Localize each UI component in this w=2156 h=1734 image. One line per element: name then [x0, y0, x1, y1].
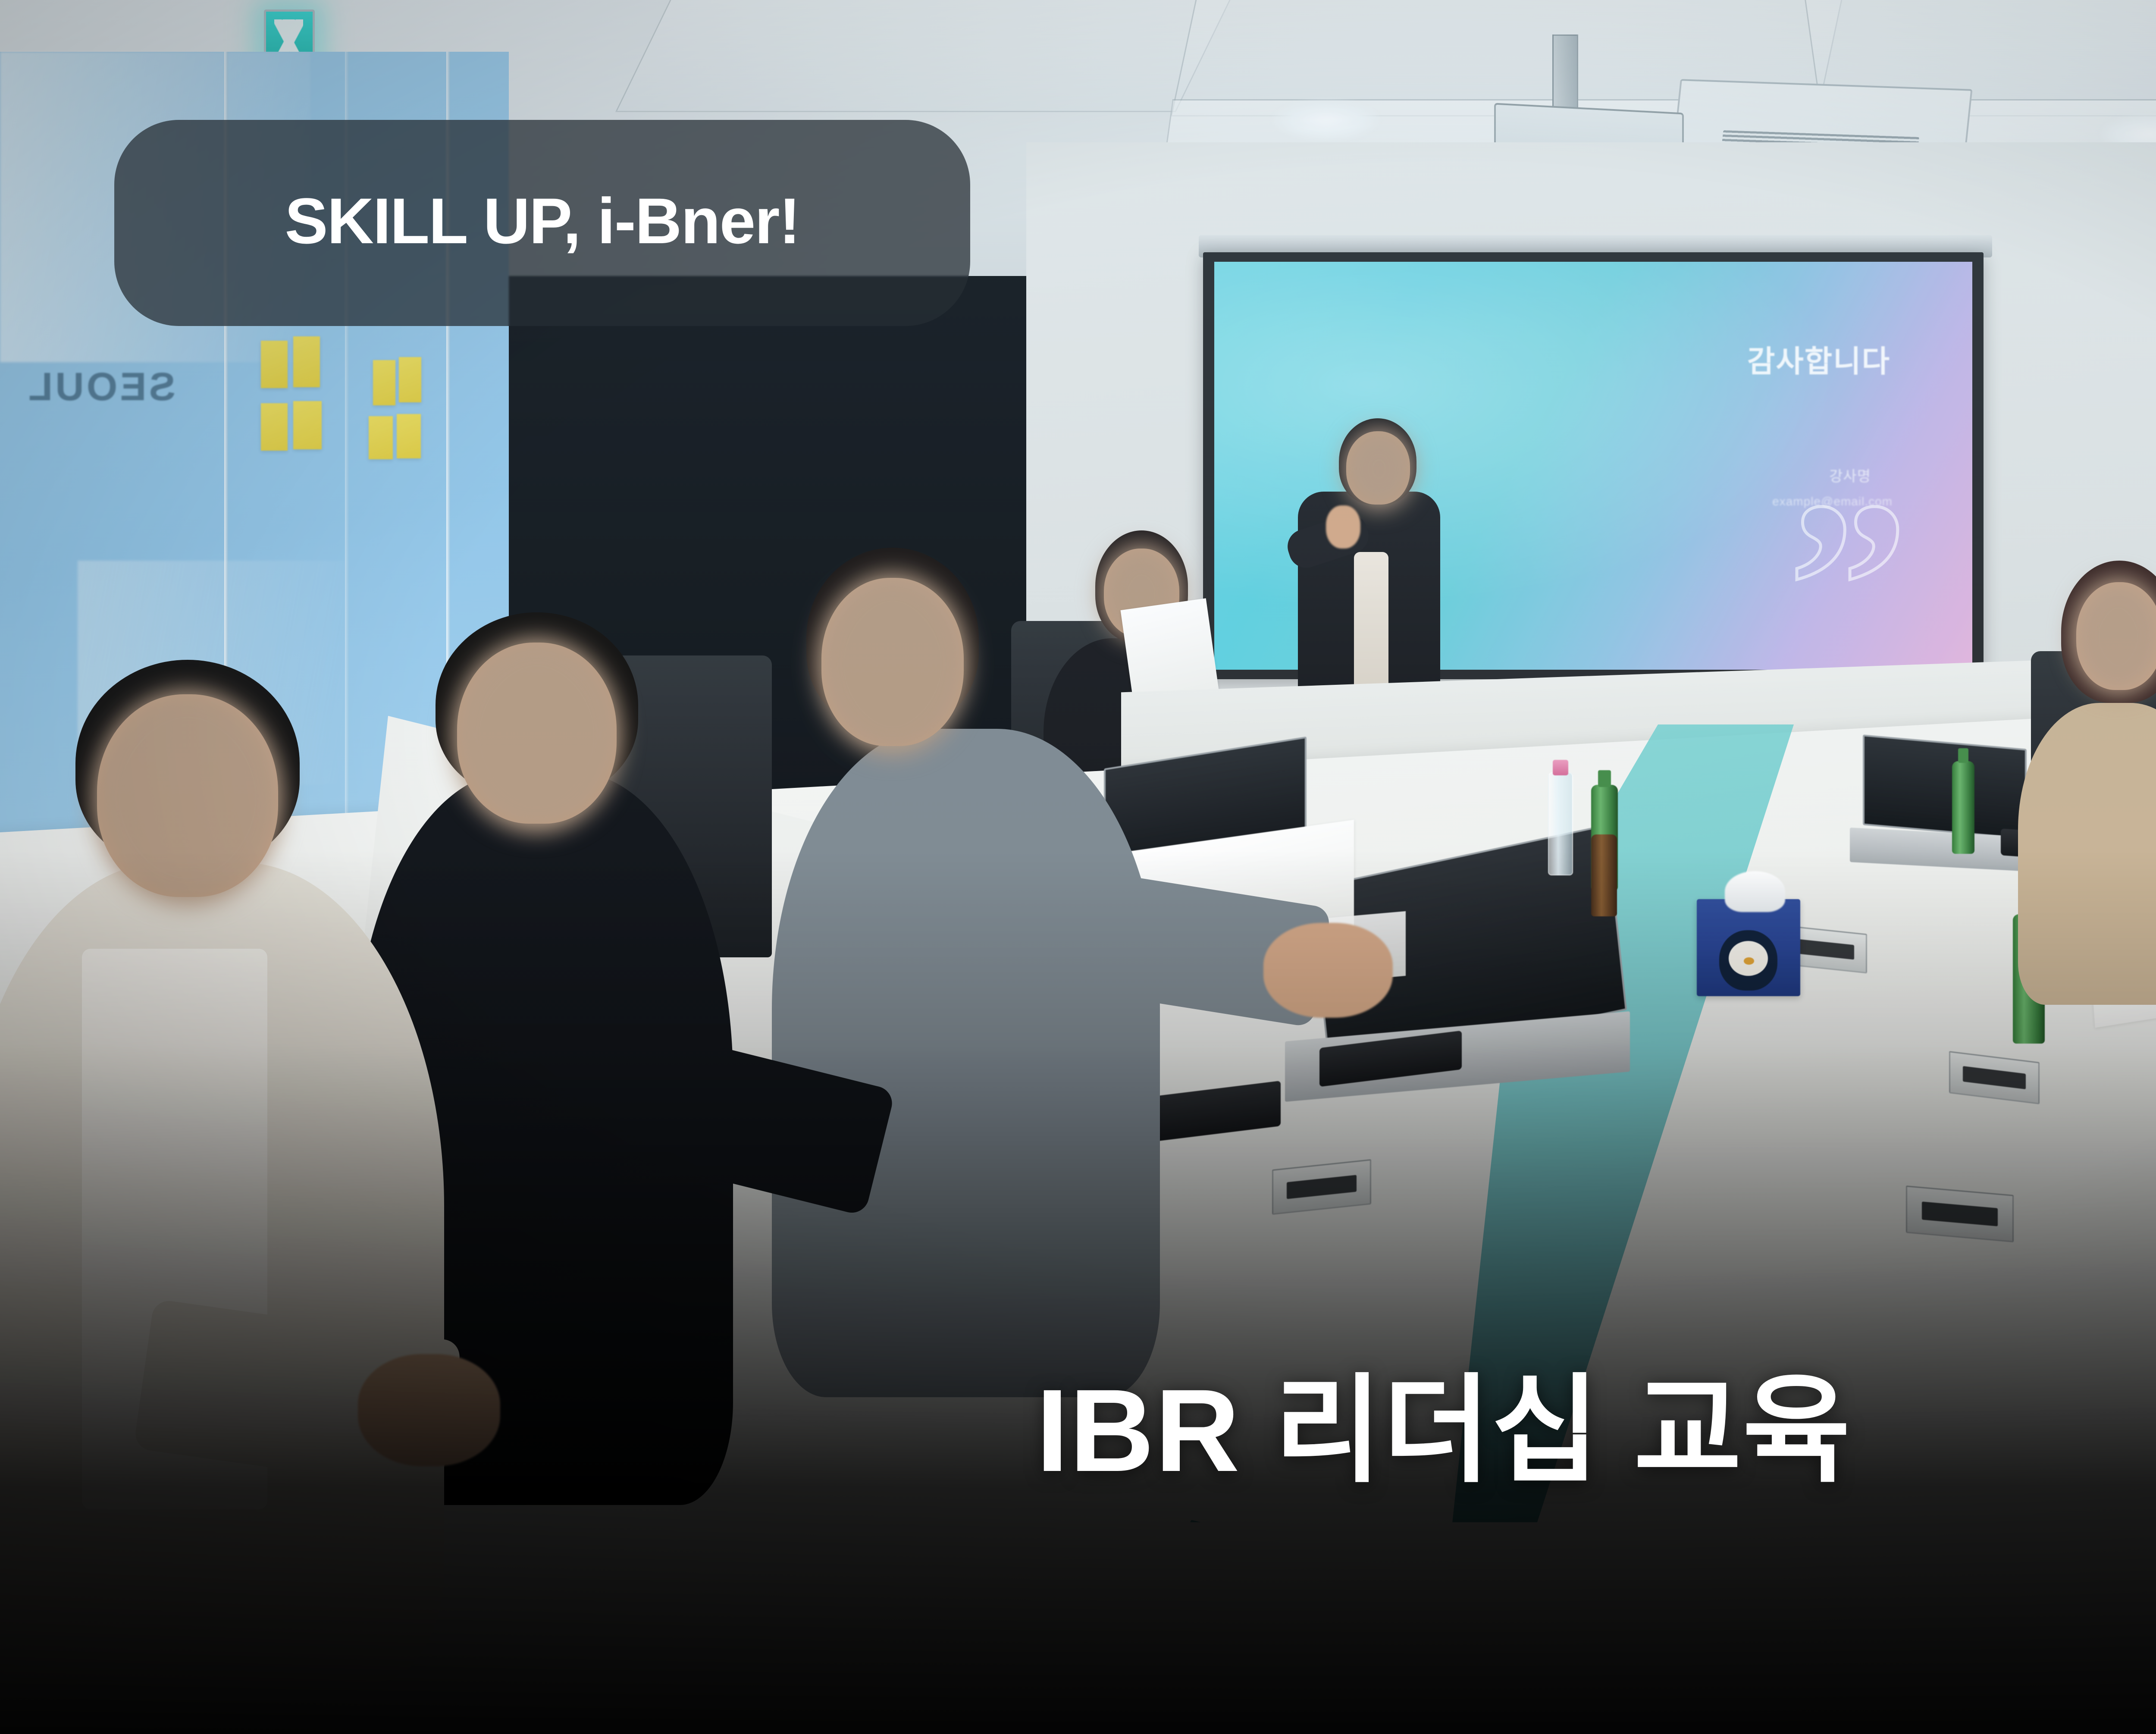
laptop-display	[1863, 734, 2027, 839]
slide-subline-2: example@email.com	[1772, 495, 1893, 508]
person-torso	[772, 729, 1160, 1397]
skill-up-badge[interactable]: SKILL UP, i-Bner!	[114, 120, 970, 326]
person-torso	[2018, 703, 2156, 1005]
slide-headline: 감사합니다	[1747, 337, 1890, 381]
tissue-box	[1697, 899, 1800, 996]
sticky-note	[293, 336, 320, 387]
sticky-note	[397, 414, 421, 458]
person-face-blur	[93, 690, 282, 906]
sticky-note	[293, 401, 322, 449]
bottle-cap	[1553, 760, 1568, 775]
sticky-note	[399, 357, 421, 402]
ceiling-downlight	[1272, 99, 1380, 140]
sticky-note	[373, 360, 395, 405]
person-face-blur	[453, 638, 621, 832]
table-power-grommet	[1906, 1185, 2014, 1242]
person-face-blur	[817, 574, 968, 755]
badge-label: SKILL UP, i-Bner!	[285, 188, 800, 257]
brown-bottle	[1591, 834, 1617, 916]
ceiling-tile	[615, 0, 1239, 112]
sticky-note	[261, 341, 288, 388]
water-bottle	[1548, 772, 1573, 875]
penguin-beak	[1744, 957, 1754, 965]
person-hand	[1263, 923, 1393, 1018]
banner-title: IBR 리더십 교육	[0, 1369, 2156, 1493]
projector-mount-arm	[1552, 34, 1578, 116]
banner-stage: SEOUL ” 감사합니다 강사명 example@email.com	[0, 0, 2156, 1734]
tissue-sheet	[1725, 871, 1785, 912]
sticky-note	[369, 416, 393, 459]
seoul-glass-lettering: SEOUL	[26, 364, 175, 410]
slide-quote-glyph: ”	[1788, 511, 1908, 661]
penguin-character-icon	[1719, 930, 1777, 991]
green-bottle	[1952, 761, 1974, 854]
presenter-hand	[1326, 505, 1360, 549]
presenter-face-blur	[1344, 429, 1413, 509]
slide-subline-1: 강사명	[1829, 464, 1871, 486]
sticky-note	[261, 403, 288, 451]
